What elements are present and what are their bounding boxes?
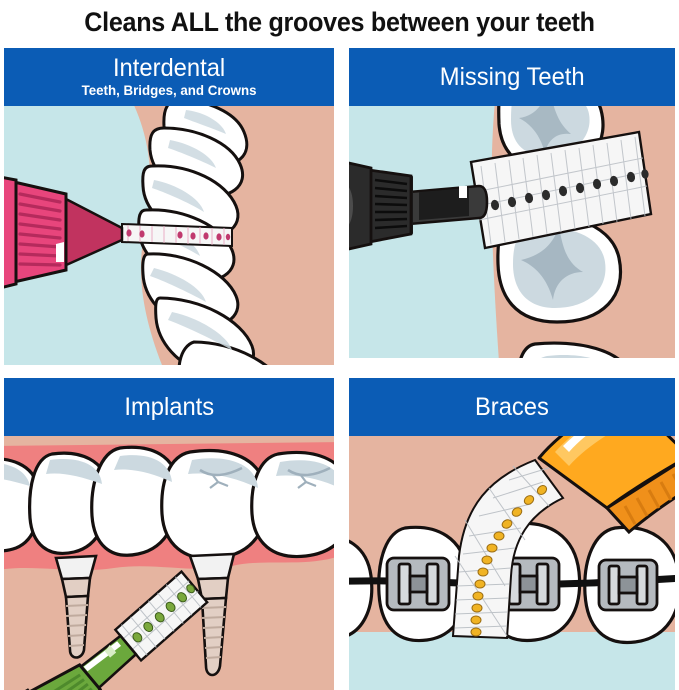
panel-interdental-illustration [4,106,334,365]
panel-interdental-banner: Interdental Teeth, Bridges, and Crowns [4,48,334,106]
panel-interdental-subtitle: Teeth, Bridges, and Crowns [82,82,257,99]
panel-braces-title: Braces [475,394,549,420]
panel-implants-banner: Implants [4,378,334,436]
panel-interdental-title: Interdental [113,55,225,81]
panel-missing-teeth: Missing Teeth [349,48,675,358]
panel-implants-illustration [4,436,334,690]
panel-braces-banner: Braces [349,378,675,436]
panel-interdental: Interdental Teeth, Bridges, and Crowns [4,48,334,365]
panel-missing-teeth-banner: Missing Teeth [349,48,675,106]
panel-braces: Braces [349,378,675,690]
panel-braces-illustration [349,436,675,690]
panel-missing-teeth-illustration [349,106,675,358]
panel-implants: Implants [4,378,334,690]
infographic-sheet: Cleans ALL the grooves between your teet… [0,0,679,690]
panel-missing-teeth-title: Missing Teeth [440,64,585,90]
panel-implants-title: Implants [124,394,214,420]
page-title: Cleans ALL the grooves between your teet… [24,0,655,44]
